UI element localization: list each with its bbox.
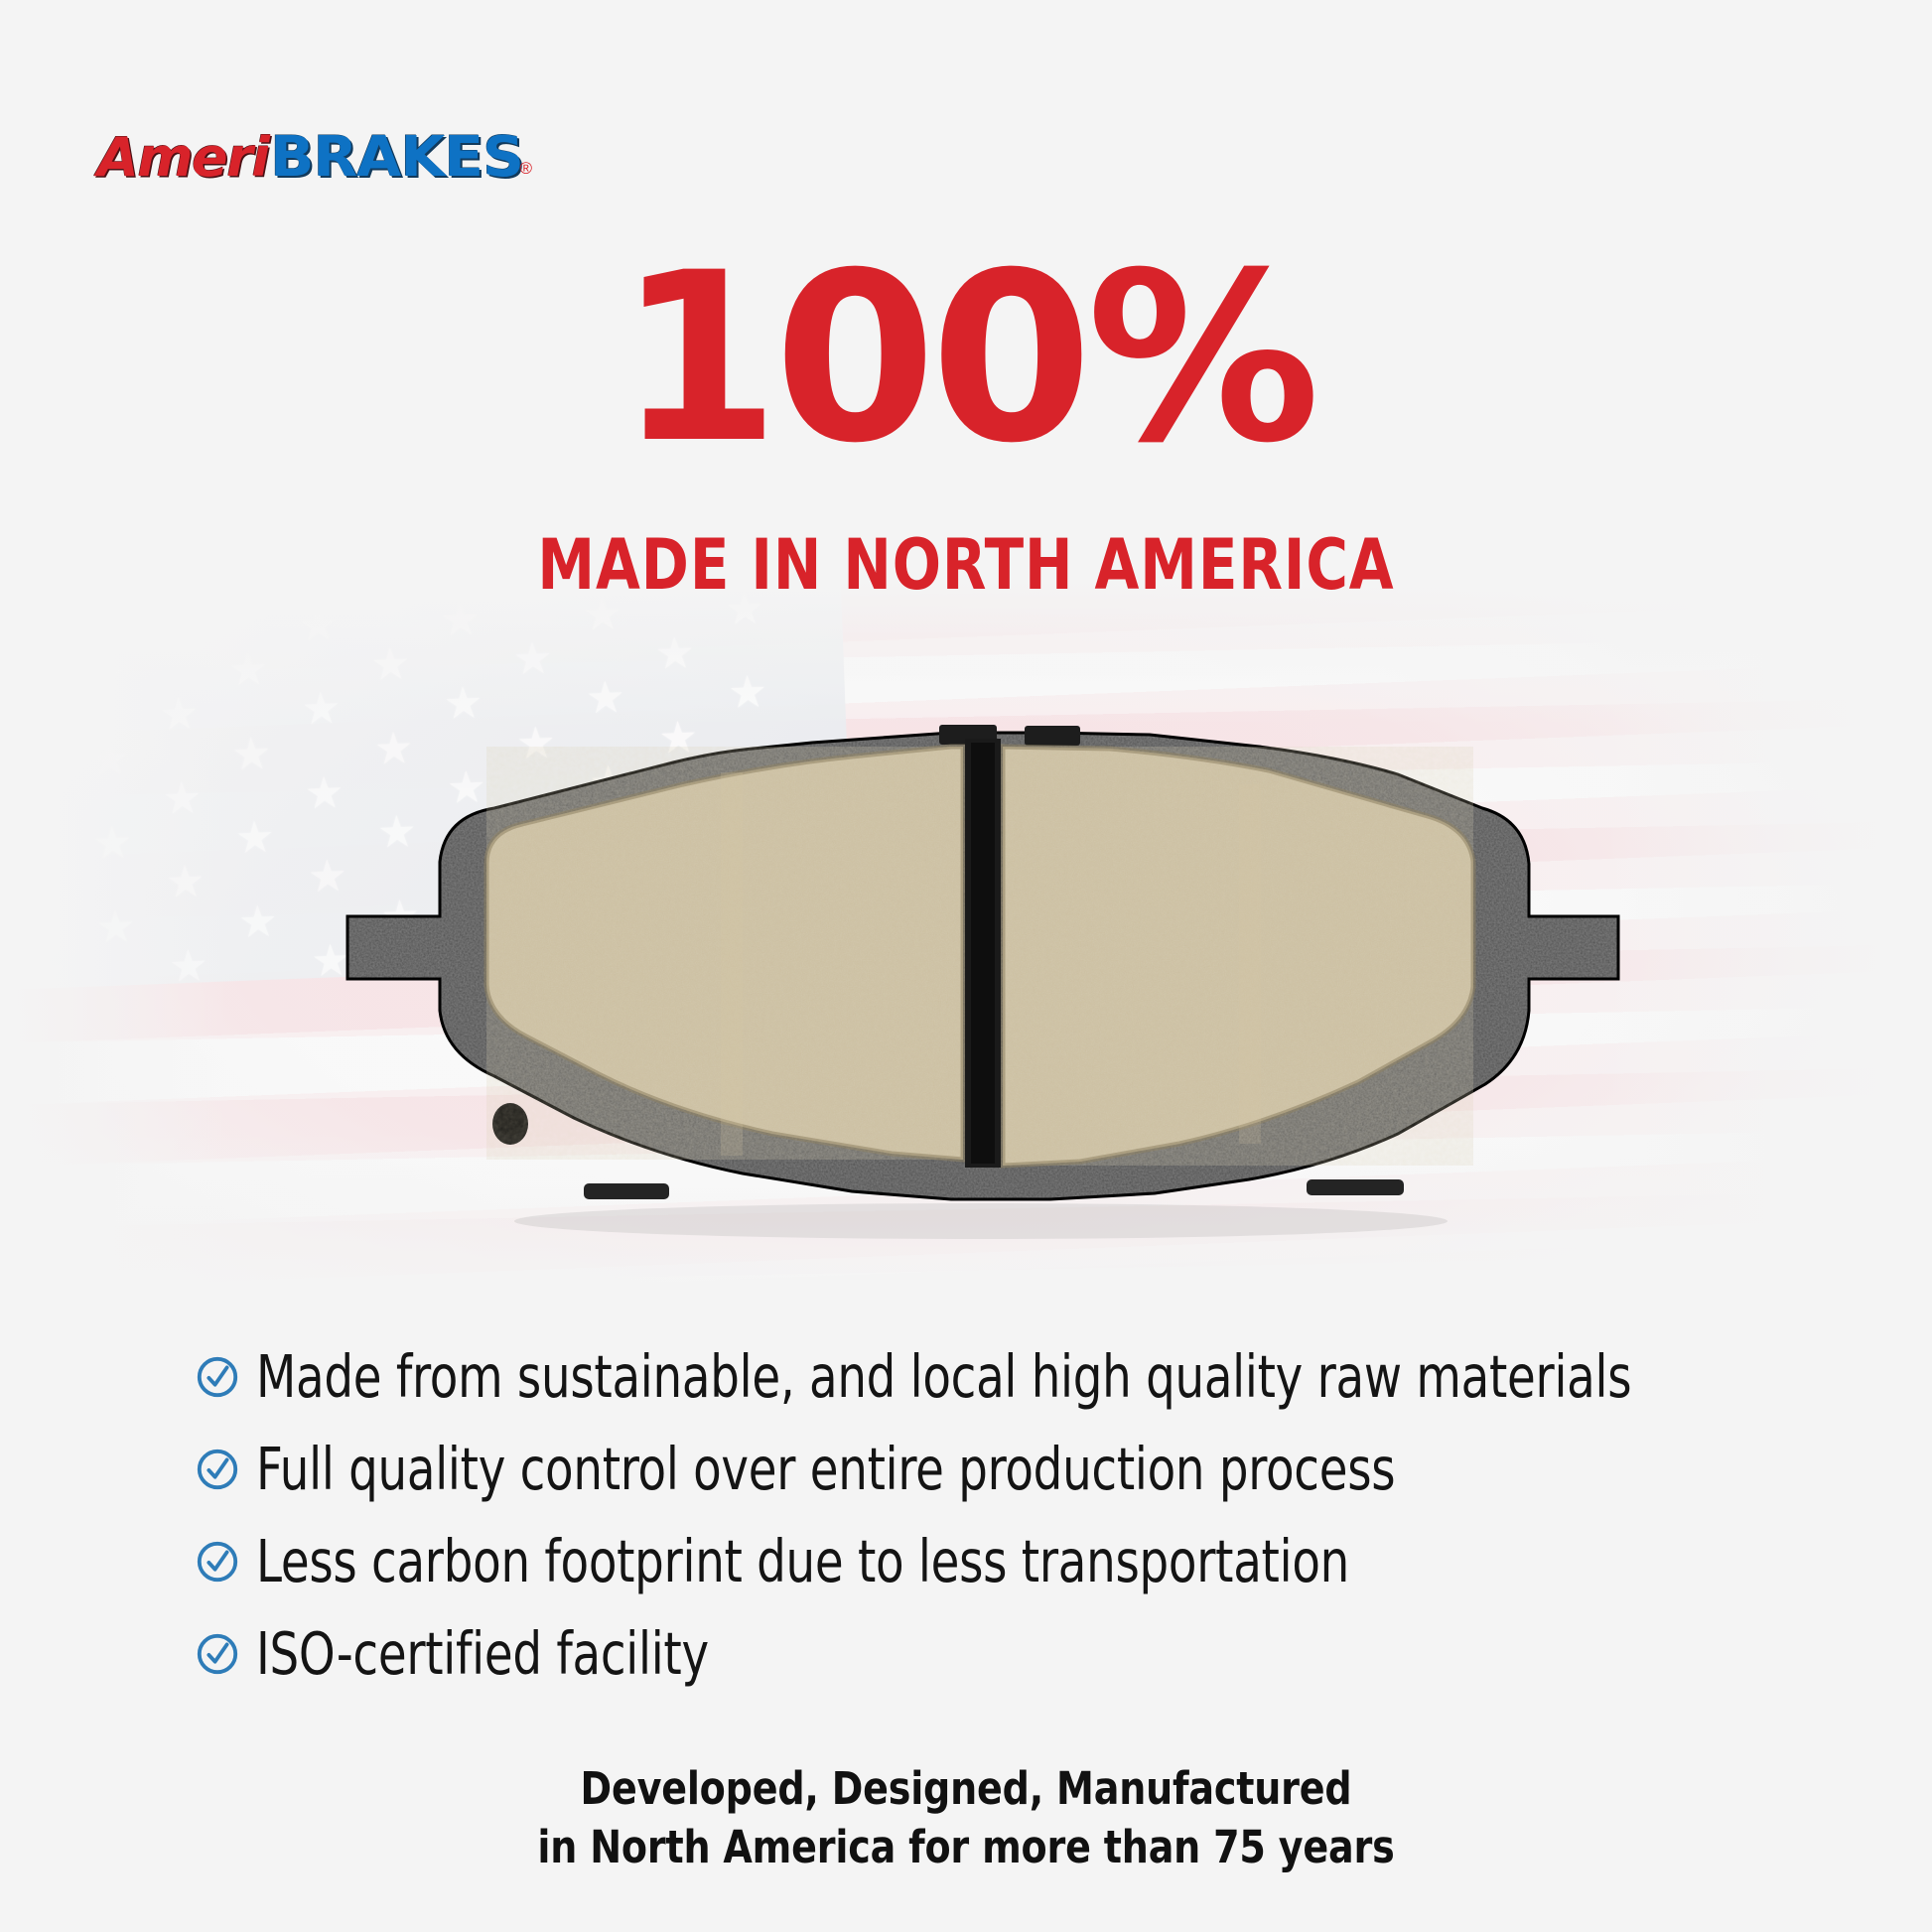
list-item-label: Less carbon footprint due to less transp… (256, 1532, 1349, 1590)
flag-star-icon: ★ (26, 950, 67, 991)
list-item: Full quality control over entire product… (195, 1423, 1803, 1515)
check-circle-icon (195, 1354, 240, 1400)
ameribrakes-logo: Ameri BRAKES ® (97, 125, 532, 190)
headline-subtitle: MADE IN NORTH AMERICA (77, 530, 1855, 600)
headline-percentage: 100% (0, 242, 1932, 476)
flag-star-icon: ★ (23, 866, 64, 910)
list-item-label: ISO-certified facility (256, 1624, 709, 1683)
flag-star-icon: ★ (165, 861, 206, 905)
lower-tab-right (1307, 1179, 1404, 1195)
flag-star-icon: ★ (168, 944, 208, 989)
logo-text-brakes: BRAKES (270, 125, 523, 190)
list-item: Less carbon footprint due to less transp… (195, 1515, 1803, 1607)
list-item-label: Made from sustainable, and local high qu… (256, 1347, 1631, 1406)
flag-star-icon: ★ (92, 821, 133, 866)
flag-star-icon: ★ (370, 642, 411, 687)
mold-seam-left (721, 772, 743, 1156)
brake-pad-illustration (256, 713, 1696, 1269)
registered-trademark-icon: ® (519, 159, 532, 179)
marketing-poster: ★★★★★★★★★★★★★★★★★★★★★★★★★★★★★★★★★★★★★★★★… (0, 0, 1932, 1932)
feature-list: Made from sustainable, and local high qu… (195, 1330, 1803, 1700)
upper-tab-right (1025, 726, 1080, 746)
flag-star-icon: ★ (16, 698, 57, 743)
flag-star-icon: ★ (13, 615, 54, 659)
flag-star-icon: ★ (228, 648, 269, 693)
mold-seam-right (1239, 784, 1261, 1144)
flag-star-icon: ★ (85, 653, 126, 698)
check-circle-icon (195, 1539, 240, 1585)
flag-star-icon: ★ (298, 604, 339, 648)
flag-fade-left (0, 576, 228, 1320)
footer-text: Developed, Designed, Manufactured in Nor… (0, 1759, 1932, 1877)
flag-star-icon: ★ (89, 738, 130, 782)
flag-star-icon: ★ (155, 609, 196, 653)
list-item: Made from sustainable, and local high qu… (195, 1330, 1803, 1423)
footer-line-2: in North America for more than 75 years (58, 1818, 1873, 1876)
check-circle-icon (195, 1447, 240, 1492)
flag-star-icon: ★ (440, 598, 481, 642)
list-item-label: Full quality control over entire product… (256, 1440, 1395, 1498)
flag-star-icon: ★ (95, 905, 136, 950)
list-item: ISO-certified facility (195, 1607, 1803, 1700)
check-circle-icon (195, 1631, 240, 1677)
flag-star-icon: ★ (512, 637, 553, 682)
flag-star-icon: ★ (162, 776, 203, 821)
logo-text-ameri: Ameri (97, 126, 268, 189)
footer-line-1: Developed, Designed, Manufactured (58, 1759, 1873, 1818)
pad-shadow (514, 1203, 1448, 1239)
brake-pad-image (256, 713, 1696, 1269)
flag-star-icon: ★ (20, 782, 61, 827)
flag-star-icon: ★ (654, 631, 695, 676)
flag-star-icon: ★ (728, 671, 768, 716)
lower-tab-left (584, 1183, 669, 1199)
flag-star-icon: ★ (159, 693, 200, 738)
